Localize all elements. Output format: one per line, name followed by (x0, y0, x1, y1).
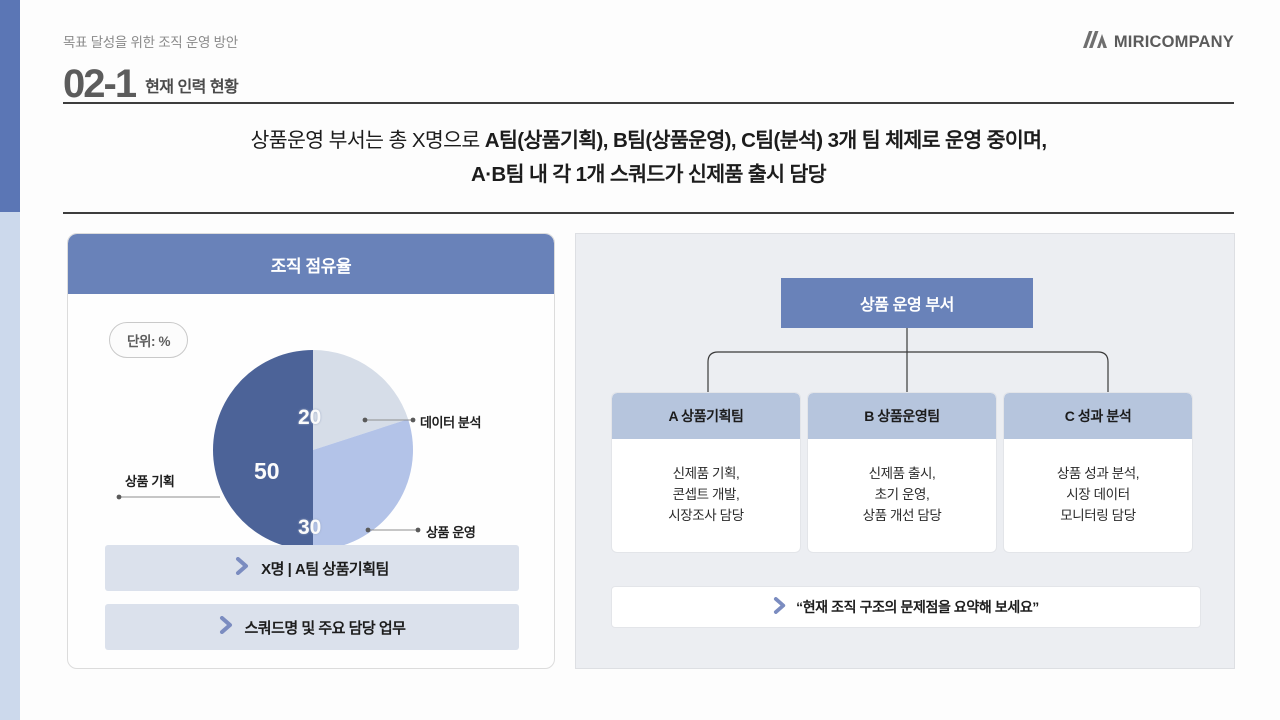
org-team-name: A 상품기획팀 (612, 393, 800, 439)
logo-mark-icon (1083, 31, 1109, 53)
summary-bar-squad-label: 스쿼드명 및 주요 담당 업무 (245, 617, 406, 638)
org-chart-panel: 상품 운영 부서 A 상품기획팀 신제품 기획, 콘셉트 개발, 시장조사 담당… (575, 233, 1235, 669)
chevron-right-icon (773, 597, 788, 617)
pie-value-analysis: 20 (298, 406, 321, 430)
org-team-card[interactable]: A 상품기획팀 신제품 기획, 콘셉트 개발, 시장조사 담당 (611, 392, 801, 553)
headline-line1-plain: 상품운영 부서는 총 X명으로 (250, 129, 484, 152)
chart-panel-title: 조직 점유율 (68, 234, 554, 294)
org-team-name: C 성과 분석 (1004, 393, 1192, 439)
summary-bar-headcount[interactable]: X명 | A팀 상품기획팀 (105, 545, 519, 591)
page-title: 02-1 현재 인력 현황 (63, 64, 238, 104)
slide-root: 목표 달성을 위한 조직 운영 방안 MIRICOMPANY 02-1 현재 인… (0, 0, 1280, 720)
org-team-card[interactable]: C 성과 분석 상품 성과 분석, 시장 데이터 모니터링 담당 (1003, 392, 1193, 553)
headline-line2: A·B팀 내 각 1개 스쿼드가 신제품 출시 담당 (471, 163, 826, 186)
pie-label-operations: 상품 운영 (426, 522, 475, 541)
summary-bar-headcount-label: X명 | A팀 상품기획팀 (261, 558, 389, 579)
pie-value-planning: 50 (254, 458, 280, 485)
org-team-card[interactable]: B 상품운영팀 신제품 출시, 초기 운영, 상품 개선 담당 (807, 392, 997, 553)
pie-label-planning: 상품 기획 (125, 471, 174, 490)
slide-kicker: 목표 달성을 위한 조직 운영 방안 (63, 31, 238, 51)
org-team-duties: 신제품 기획, 콘셉트 개발, 시장조사 담당 (612, 439, 800, 552)
logo-text: MIRICOMPANY (1114, 33, 1234, 52)
pie-value-operations: 30 (298, 516, 321, 540)
divider-bottom (63, 212, 1234, 214)
headline-line1-bold: A팀(상품기획), B팀(상품운영), C팀(분석) 3개 팀 체제로 운영 중… (485, 129, 1047, 152)
org-connectors (576, 328, 1236, 398)
section-title: 현재 인력 현황 (145, 73, 238, 97)
divider-top (63, 102, 1234, 104)
org-callout[interactable]: “현재 조직 구조의 문제점을 요약해 보세요” (611, 586, 1201, 628)
summary-bar-list: X명 | A팀 상품기획팀 스쿼드명 및 주요 담당 업무 (105, 545, 519, 650)
org-node-root[interactable]: 상품 운영 부서 (781, 278, 1033, 328)
accent-strip-top (0, 0, 20, 212)
pie-label-analysis: 데이터 분석 (420, 412, 481, 431)
headline-block: 상품운영 부서는 총 X명으로 A팀(상품기획), B팀(상품운영), C팀(분… (63, 124, 1234, 192)
chevron-right-icon (235, 557, 251, 579)
chevron-right-icon (219, 616, 235, 638)
org-callout-label: “현재 조직 구조의 문제점을 요약해 보세요” (796, 597, 1039, 617)
org-team-cards: A 상품기획팀 신제품 기획, 콘셉트 개발, 시장조사 담당 B 상품운영팀 … (611, 392, 1193, 553)
section-number: 02-1 (63, 64, 135, 104)
org-team-duties: 상품 성과 분석, 시장 데이터 모니터링 담당 (1004, 439, 1192, 552)
org-node-root-label: 상품 운영 부서 (860, 291, 954, 315)
org-team-duties: 신제품 출시, 초기 운영, 상품 개선 담당 (808, 439, 996, 552)
chart-panel: 조직 점유율 단위: % (67, 233, 555, 669)
brand-logo: MIRICOMPANY (1083, 31, 1234, 53)
pie-chart-area: 데이터 분석 상품 운영 상품 기획 20 30 50 (68, 294, 554, 566)
summary-bar-squad[interactable]: 스쿼드명 및 주요 담당 업무 (105, 604, 519, 650)
accent-strip-bottom (0, 212, 20, 720)
org-team-name: B 상품운영팀 (808, 393, 996, 439)
